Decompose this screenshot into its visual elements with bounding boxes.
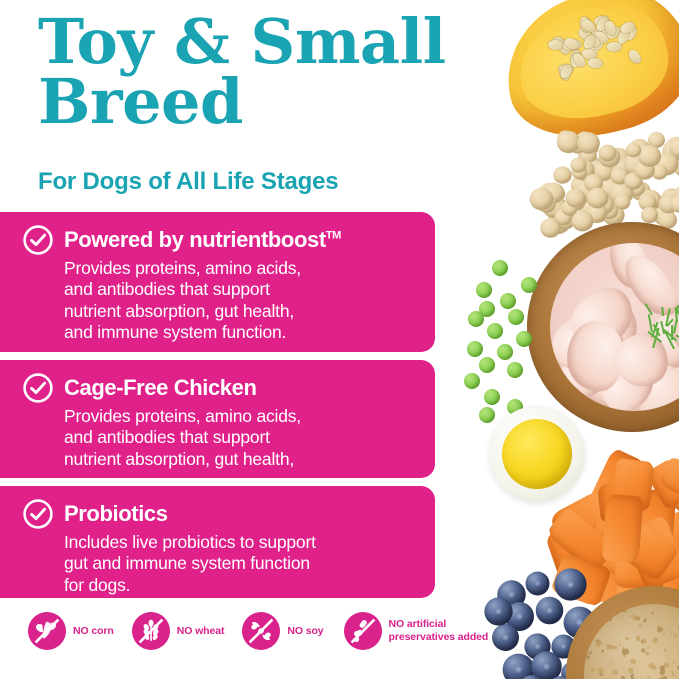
meal-crumb (673, 662, 675, 665)
grain-meal-image (584, 604, 679, 679)
pumpkin-seed (547, 40, 563, 51)
meal-crumb (652, 665, 658, 670)
chickpea (547, 212, 570, 234)
chickpea (669, 138, 679, 158)
meal-crumb (620, 615, 624, 618)
pumpkin-seed (571, 52, 588, 70)
green-pea (487, 323, 503, 339)
dill-frond (661, 307, 663, 316)
chicken-chunk (561, 278, 644, 359)
dill-frond (675, 307, 678, 323)
chickpea (572, 181, 595, 202)
dill-frond (648, 315, 653, 333)
badge-no-artificial-preservatives: NO artificial preservatives added (344, 612, 489, 650)
page-title: Toy & Small Breed (38, 12, 508, 132)
chickpea (625, 172, 643, 189)
subtitle: For Dogs of All Life Stages (38, 168, 338, 196)
pumpkin-seed (598, 22, 612, 39)
meal-crumb (609, 662, 612, 665)
pumpkin-seed (592, 34, 606, 51)
green-pea (507, 399, 523, 415)
raw-chicken-image (550, 243, 679, 411)
chicken-chunk (615, 247, 679, 324)
meal-crumb (651, 636, 659, 644)
meal-crumb (600, 649, 604, 652)
chickpeas-image (530, 128, 679, 233)
sweet-potato-chunk (624, 514, 658, 571)
chicken-chunk (647, 313, 679, 370)
chickpea (661, 188, 679, 207)
meal-crumb (647, 676, 651, 679)
chickpea (559, 203, 576, 219)
green-pea (484, 389, 500, 405)
headline-line-1: Toy & Small (38, 12, 508, 72)
meal-crumb (642, 639, 646, 643)
chickpea (578, 147, 597, 165)
chickpea (579, 198, 603, 221)
chickpea (662, 140, 679, 161)
pumpkin-seed (581, 47, 598, 60)
badge-label: NO artificial preservatives added (389, 618, 489, 644)
sweet-potato-chunk (663, 502, 679, 547)
pumpkin-flesh (507, 0, 679, 133)
dill-frond (653, 324, 661, 337)
headline-line-2: Breed (38, 72, 508, 132)
pumpkin-seed (588, 39, 600, 55)
meal-crumb (667, 604, 671, 608)
chickpea (667, 137, 679, 153)
pumpkin-seed (563, 36, 581, 51)
pumpkin-seed (579, 17, 597, 34)
meal-crumb (657, 626, 663, 632)
meal-crumb (672, 670, 675, 673)
check-circle-icon (22, 372, 54, 404)
chickpea (535, 189, 558, 211)
green-pea (479, 301, 495, 317)
chickpea (609, 182, 633, 205)
no-wheat-icon (132, 612, 170, 650)
chickpea (568, 194, 586, 211)
sweet-potato-chunk (586, 447, 644, 519)
dill-frond (671, 325, 673, 340)
blueberry (536, 597, 563, 624)
meal-crumb (622, 646, 624, 649)
chickpea (537, 195, 556, 213)
benefit-card-body: Provides proteins, amino acids, and anti… (64, 406, 419, 470)
green-pea (508, 309, 524, 325)
badge-no-wheat: NO wheat (132, 612, 225, 650)
green-pea (468, 311, 484, 327)
pumpkin-seed (581, 17, 592, 33)
chickpea (658, 195, 678, 214)
chickpea (626, 143, 641, 158)
chicken-chunk (635, 364, 679, 411)
chickpea (587, 187, 609, 208)
chickpea (628, 139, 649, 159)
pumpkin-seed (581, 33, 598, 51)
benefit-card-body: Includes live probiotics to support gut … (64, 532, 419, 596)
chickpea (624, 153, 647, 175)
meal-crumb (648, 662, 656, 670)
chickpea (587, 161, 607, 180)
pumpkin-seed (566, 39, 583, 52)
pumpkin-seed (589, 26, 603, 43)
sweet-potato-chunk (587, 499, 648, 559)
chickpea (610, 167, 628, 184)
meal-crumb (625, 637, 629, 640)
meal-crumb (584, 631, 588, 635)
sweet-potato-chunk (610, 519, 679, 581)
chicken-chunk (660, 297, 679, 380)
blueberry (526, 571, 550, 595)
meal-crumb (631, 613, 639, 621)
meal-crumb (587, 650, 592, 655)
chicken-chunk (648, 353, 679, 411)
chickpea (639, 190, 661, 211)
pumpkin-seed (594, 15, 610, 33)
chickpea (589, 204, 609, 223)
chicken-chunk (566, 321, 625, 392)
meal-crumb (602, 643, 604, 646)
pumpkin-seed (562, 40, 577, 51)
chickpea (577, 160, 599, 181)
green-pea (476, 282, 492, 298)
dill-frond (644, 303, 652, 315)
meal-crumb (622, 648, 630, 654)
badge-no-corn: NO corn (28, 612, 114, 650)
meal-crumb (663, 648, 667, 652)
pumpkin-seed (605, 24, 623, 41)
blueberry (485, 597, 513, 625)
blueberry (564, 606, 596, 638)
pumpkin-seed (593, 14, 610, 27)
chickpea (578, 155, 600, 176)
meal-crumb (607, 645, 613, 650)
trademark-symbol: TM (326, 230, 341, 242)
sweet-potato-chunk (608, 533, 664, 578)
pumpkin-wedge-image (491, 0, 679, 154)
pumpkin-seed (618, 20, 636, 35)
sweet-potato-chunk (551, 551, 613, 607)
pumpkin-seed (623, 24, 639, 42)
sweet-potato-chunk (658, 456, 679, 507)
pumpkin-seed (587, 57, 603, 68)
green-pea (479, 407, 495, 423)
green-pea (464, 373, 480, 389)
meal-crumb (663, 633, 666, 636)
pumpkin-seed (585, 32, 602, 50)
sweet-potato-chunk (545, 507, 616, 575)
meal-crumb (660, 627, 664, 631)
benefit-card-header: Probiotics (22, 498, 419, 530)
meal-crumb (672, 673, 675, 675)
chickpea (675, 183, 679, 206)
green-pea (492, 260, 508, 276)
sweet-potato-chunk (597, 479, 651, 523)
meal-crumb (660, 665, 666, 670)
meal-crumb (586, 637, 590, 640)
meal-crumb (621, 675, 625, 679)
benefit-title-text: Probiotics (64, 501, 168, 526)
meal-crumb (589, 666, 595, 672)
dill-frond (676, 305, 679, 314)
check-circle-icon (22, 498, 54, 530)
meal-crumb (607, 609, 615, 617)
meal-crumb (598, 672, 603, 677)
pumpkin-seed (569, 48, 583, 65)
chickpea (539, 182, 561, 202)
pumpkin-seeds (543, 5, 646, 85)
chickpea (593, 161, 614, 181)
product-feature-panel: Toy & Small Breed For Dogs of All Life S… (0, 0, 679, 679)
blueberry (551, 634, 575, 658)
pumpkin-seed (557, 64, 571, 81)
chickpea (658, 211, 677, 229)
pumpkin-seed (607, 41, 622, 52)
chickpea (553, 166, 571, 183)
chickpea (557, 130, 573, 145)
chicken-chunk (553, 345, 614, 406)
chickpea (576, 180, 597, 199)
meal-crumb (647, 647, 649, 650)
sweet-potato-chunk (636, 488, 677, 556)
chickpea (607, 148, 631, 170)
chickpea (542, 182, 564, 203)
blueberry (574, 673, 600, 679)
meal-crumb (612, 645, 617, 651)
green-pea (479, 357, 495, 373)
chickpea (670, 195, 679, 212)
meal-crumb (597, 666, 605, 675)
benefit-card-header: Powered by nutrientboostTM (22, 224, 419, 256)
pumpkin-seed (626, 48, 643, 66)
dill-frond (660, 321, 664, 334)
meal-crumb (662, 661, 670, 669)
blueberry (531, 651, 561, 679)
chickpea (614, 195, 630, 210)
wooden-bowl (527, 222, 679, 432)
meal-crumb (641, 640, 644, 643)
chickpea (561, 200, 578, 216)
chickpea (603, 160, 619, 175)
chickpea (614, 160, 631, 177)
meal-crumb (629, 673, 634, 678)
chickpea (544, 196, 567, 218)
chickpea (648, 132, 665, 148)
chicken-chunk (552, 302, 638, 384)
meal-crumb (628, 667, 634, 674)
green-pea (467, 341, 483, 357)
benefit-card: Cage-Free Chicken Provides proteins, ami… (0, 360, 435, 478)
chickpea (639, 193, 657, 210)
meal-crumb (620, 604, 628, 613)
chickpea (601, 203, 618, 219)
no-artificial-preservatives-icon (344, 612, 382, 650)
blueberry (554, 568, 586, 600)
meal-crumb (636, 635, 641, 641)
chicken-chunk (563, 346, 629, 411)
meal-crumb (628, 615, 631, 618)
green-pea (500, 293, 516, 309)
benefit-card-title: Cage-Free Chicken (64, 375, 257, 401)
green-pea (521, 277, 537, 293)
chickpea (598, 147, 620, 168)
sweet-potato-chunk (564, 545, 618, 608)
oil-liquid-image (502, 419, 572, 489)
benefit-card-header: Cage-Free Chicken (22, 372, 419, 404)
blueberry (586, 650, 614, 678)
chickpea (580, 138, 599, 156)
chickpea (651, 165, 667, 180)
chickpea (631, 181, 651, 200)
blueberry (503, 654, 535, 679)
meal-crumb (641, 641, 645, 644)
chickpea (634, 160, 655, 180)
chickpea (570, 138, 586, 153)
chickpea (599, 144, 617, 161)
meal-bowl (566, 586, 679, 679)
chickpea (599, 177, 623, 200)
blueberry (574, 628, 599, 653)
sweet-potato-chunk (602, 494, 644, 564)
chickpea (584, 174, 603, 192)
chickpea (577, 133, 600, 154)
dill-frond (665, 331, 676, 341)
badge-label: NO soy (287, 625, 323, 638)
green-pea (497, 344, 513, 360)
badge-label: NO wheat (177, 625, 225, 638)
meal-crumb (640, 648, 645, 654)
sweet-potato-chunk (646, 459, 679, 511)
chicken-chunk (567, 288, 648, 369)
blueberry (492, 624, 519, 651)
green-pea (516, 331, 532, 347)
sweet-potato-chunk (614, 555, 663, 588)
sweet-potato-chunk (620, 522, 679, 582)
meal-crumb (670, 630, 674, 634)
badge-no-soy: NO soy (242, 612, 323, 650)
chickpea (550, 187, 565, 202)
free-from-badge-row: NO corn NO wheat (28, 612, 488, 650)
sweet-potato-chunk (591, 502, 651, 556)
sweet-potato-chunk (548, 491, 617, 555)
chickpea (603, 204, 625, 225)
pumpkin-seed (579, 16, 592, 33)
pumpkin-seed (615, 27, 631, 45)
sweet-potato-chunk (639, 546, 679, 621)
chicken-chunk (593, 348, 662, 411)
benefit-card-title: Powered by nutrientboostTM (64, 227, 341, 253)
meal-crumb (629, 658, 637, 666)
meal-crumb (599, 604, 606, 609)
benefit-title-text: Cage-Free Chicken (64, 375, 257, 400)
chickpea (572, 165, 587, 180)
dill-frond (647, 331, 662, 343)
chickpea (571, 210, 593, 231)
meal-crumb (622, 654, 626, 658)
pumpkin-seed (547, 34, 565, 51)
chicken-chunk (603, 243, 656, 295)
dill-frond (675, 335, 679, 345)
check-circle-icon (22, 224, 54, 256)
benefit-card: Powered by nutrientboostTM Provides prot… (0, 212, 435, 352)
dill-frond (665, 308, 670, 326)
pumpkin-seed (557, 39, 572, 57)
chickpea (540, 218, 561, 238)
dill-frond (673, 319, 678, 333)
chickpea (542, 196, 566, 219)
sweet-potato-chunk (611, 458, 655, 511)
dill-frond (663, 329, 674, 349)
chickpea (612, 161, 634, 182)
meal-crumb (638, 624, 643, 629)
sweet-potato-chunk (622, 515, 679, 591)
sweet-potato-chunk (620, 502, 673, 554)
chickpea (529, 188, 553, 210)
chickpea (571, 158, 587, 173)
chickpea (593, 195, 614, 215)
chickpea (555, 211, 575, 230)
dill-frond (652, 327, 659, 348)
meal-crumb (673, 634, 677, 638)
chickpea (638, 145, 661, 167)
chickpea (554, 208, 572, 225)
chickpea (674, 159, 679, 177)
pumpkin-seed (592, 29, 610, 46)
chicken-chunk (569, 317, 613, 364)
dill-sprig-image (650, 300, 679, 344)
chickpea (576, 131, 592, 146)
blueberry (524, 634, 550, 660)
chickpea (566, 189, 586, 208)
meal-crumb (618, 643, 621, 646)
meal-crumb (634, 615, 641, 621)
green-pea (507, 362, 523, 378)
meal-crumb (584, 654, 590, 660)
meal-crumb (612, 670, 619, 676)
chickpea (557, 131, 580, 153)
pumpkin-seed (558, 63, 574, 81)
meal-crumb (659, 667, 666, 675)
meal-crumb (651, 612, 655, 615)
meal-crumb (595, 639, 600, 646)
dill-frond (666, 318, 673, 326)
chicken-chunk (555, 317, 625, 368)
benefit-card-body: Provides proteins, amino acids, and anti… (64, 258, 419, 343)
benefit-title-text: Powered by nutrientboost (64, 227, 326, 252)
chickpea (655, 153, 679, 176)
sweet-potato-chunk (660, 456, 679, 528)
blueberry (562, 661, 587, 679)
chicken-chunk (550, 303, 624, 381)
meal-crumb (605, 644, 611, 649)
benefit-card-title: Probiotics (64, 501, 168, 527)
meal-crumb (584, 634, 592, 641)
dill-frond (651, 322, 658, 338)
chickpea (610, 190, 629, 208)
sweet-potato-chunk (544, 521, 599, 577)
no-soy-icon (242, 612, 280, 650)
pumpkin-seed (576, 26, 594, 43)
meal-crumb (611, 645, 615, 649)
pumpkin-seed (558, 64, 574, 75)
sweet-potato-chunk (614, 534, 674, 609)
blueberry (505, 602, 534, 631)
meal-crumb (595, 639, 603, 647)
benefit-card: Probiotics Includes live probiotics to s… (0, 486, 435, 598)
chickpea (572, 159, 594, 180)
badge-label: NO corn (73, 625, 114, 638)
